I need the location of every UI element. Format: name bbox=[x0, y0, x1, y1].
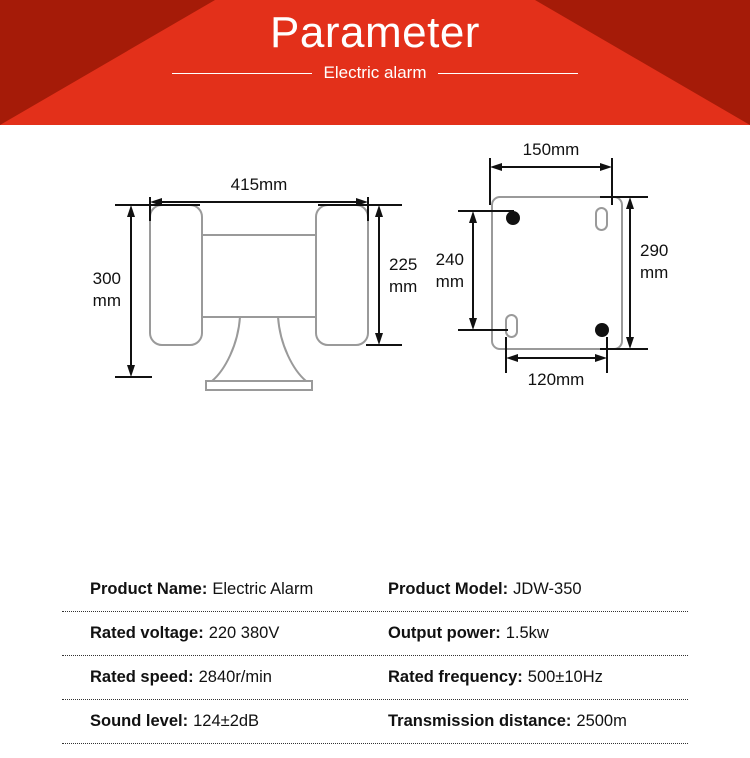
mount-slot-bottom-left bbox=[506, 315, 517, 337]
dim-240-label-line2: mm bbox=[436, 272, 464, 291]
spec-value: 500±10Hz bbox=[528, 668, 603, 687]
spec-label: Output power: bbox=[388, 624, 501, 643]
specification-table: Product Name: Electric Alarm Product Mod… bbox=[62, 568, 688, 744]
banner-content: Parameter Electric alarm bbox=[0, 0, 750, 125]
housing-sides bbox=[202, 235, 316, 317]
dim-225-arrow-top bbox=[375, 205, 383, 217]
spec-label: Sound level: bbox=[90, 712, 188, 731]
left-horn-body bbox=[150, 205, 202, 345]
front-view-drawing: 415mm 300 mm 225 mm bbox=[93, 175, 418, 390]
table-row: Sound level: 124±2dB Transmission distan… bbox=[62, 700, 688, 744]
mount-slot-top-right bbox=[596, 208, 607, 230]
spec-label: Product Name: bbox=[90, 580, 207, 599]
dim-225-label-line1: 225 bbox=[389, 255, 417, 274]
dim-225-label-line2: mm bbox=[389, 277, 417, 296]
spec-label: Rated frequency: bbox=[388, 668, 523, 687]
header-banner: Parameter Electric alarm bbox=[0, 0, 750, 125]
dim-300-label-line1: 300 bbox=[93, 269, 121, 288]
dim-240-label-line1: 240 bbox=[436, 250, 464, 269]
dim-415-label: 415mm bbox=[231, 175, 288, 194]
spec-cell-sound-level: Sound level: 124±2dB bbox=[62, 712, 362, 731]
spec-cell-rated-speed: Rated speed: 2840r/min bbox=[62, 668, 362, 687]
spec-cell-transmission-distance: Transmission distance: 2500m bbox=[362, 712, 688, 731]
spec-cell-output-power: Output power: 1.5kw bbox=[362, 624, 688, 643]
parameter-spec-sheet: Parameter Electric alarm bbox=[0, 0, 750, 758]
spec-cell-rated-frequency: Rated frequency: 500±10Hz bbox=[362, 668, 688, 687]
mount-hole-bottom-right-dot bbox=[595, 323, 609, 337]
table-row: Rated voltage: 220 380V Output power: 1.… bbox=[62, 612, 688, 656]
spec-value: 124±2dB bbox=[193, 712, 259, 731]
spec-value: Electric Alarm bbox=[212, 580, 313, 599]
dim-300-arrow-top bbox=[127, 205, 135, 217]
page-subtitle: Electric alarm bbox=[324, 63, 427, 83]
technical-drawings: 415mm 300 mm 225 mm bbox=[0, 125, 750, 560]
page-title: Parameter bbox=[270, 9, 480, 57]
spec-value: 220 380V bbox=[209, 624, 280, 643]
spec-value: 2840r/min bbox=[199, 668, 272, 687]
banner-subtitle-row: Electric alarm bbox=[172, 63, 579, 83]
spec-cell-rated-voltage: Rated voltage: 220 380V bbox=[62, 624, 362, 643]
spec-label: Transmission distance: bbox=[388, 712, 571, 731]
spec-value: JDW-350 bbox=[513, 580, 581, 599]
dim-120-arrow-right bbox=[595, 354, 607, 362]
right-horn-body bbox=[316, 205, 368, 345]
spec-cell-product-model: Product Model: JDW-350 bbox=[362, 580, 688, 599]
table-row: Product Name: Electric Alarm Product Mod… bbox=[62, 568, 688, 612]
dim-290-arrow-top bbox=[626, 197, 634, 209]
dim-290-label-line1: 290 bbox=[640, 241, 668, 260]
mounting-plate-drawing: 150mm 240 mm 290 mm bbox=[436, 140, 669, 389]
dim-120-arrow-left bbox=[506, 354, 518, 362]
dim-300-label-line2: mm bbox=[93, 291, 121, 310]
dim-150-label: 150mm bbox=[523, 140, 580, 159]
dim-300-arrow-bottom bbox=[127, 365, 135, 377]
spec-label: Product Model: bbox=[388, 580, 508, 599]
dim-150-arrow-right bbox=[600, 163, 612, 171]
dim-240-arrow-bottom bbox=[469, 318, 477, 330]
drawings-svg: 415mm 300 mm 225 mm bbox=[0, 125, 750, 560]
spec-label: Rated speed: bbox=[90, 668, 194, 687]
dim-290-label-line2: mm bbox=[640, 263, 668, 282]
trumpet-flare bbox=[212, 317, 306, 381]
spec-label: Rated voltage: bbox=[90, 624, 204, 643]
table-row: Rated speed: 2840r/min Rated frequency: … bbox=[62, 656, 688, 700]
spec-value: 2500m bbox=[576, 712, 626, 731]
dim-150-arrow-left bbox=[490, 163, 502, 171]
dim-240-arrow-top bbox=[469, 211, 477, 223]
dim-120-label: 120mm bbox=[528, 370, 585, 389]
base-plate bbox=[206, 381, 312, 390]
spec-cell-product-name: Product Name: Electric Alarm bbox=[62, 580, 362, 599]
dim-225-arrow-bottom bbox=[375, 333, 383, 345]
dim-290-arrow-bottom bbox=[626, 337, 634, 349]
subtitle-rule-left bbox=[172, 73, 312, 74]
subtitle-rule-right bbox=[438, 73, 578, 74]
mount-hole-top-left-dot bbox=[506, 211, 520, 225]
center-housing bbox=[202, 235, 316, 317]
spec-value: 1.5kw bbox=[506, 624, 549, 643]
